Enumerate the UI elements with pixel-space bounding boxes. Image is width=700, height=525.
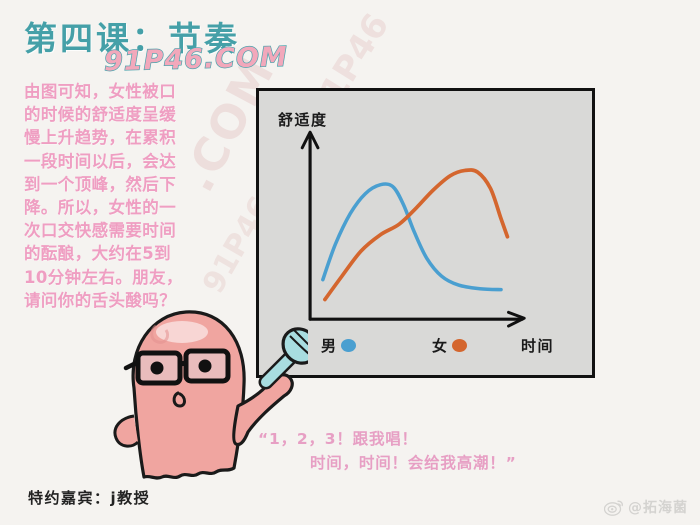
legend-label-female: 女 [432,335,447,356]
body-line: 10分钟左右。朋友， [24,266,236,289]
character-head-highlight [156,321,208,343]
quote-line: 时间，时间！会给我高潮！” [258,451,517,475]
chart-plot-area [259,91,592,375]
body-line: 降。所以，女性的一 [24,196,236,219]
legend-label-male: 男 [321,335,336,356]
series-line-male [323,184,501,290]
poster-canvas: .COM 91P46 91P46 第四课：节奏 91P46.COM 由图可知，女… [0,0,700,525]
body-line: 的酝酿，大约在5到 [24,242,236,265]
legend-item-male[interactable]: 男 [321,335,356,356]
legend-color-dot-female [452,339,467,352]
guest-caption: 特约嘉宾：j教授 [28,487,150,508]
quote-line: “1，2，3！跟我唱！ [258,427,517,451]
legend-color-dot-male [341,339,356,352]
body-line: 由图可知，女性被口 [24,80,236,103]
body-line: 到一个顶峰，然后下 [24,173,236,196]
legend-item-female[interactable]: 女 [432,335,467,356]
body-line: 一段时间以后，会达 [24,150,236,173]
quote-block: “1，2，3！跟我唱！ 时间，时间！会给我高潮！” [258,427,517,475]
eye-right [199,360,212,373]
body-line: 的时候的舒适度呈缓 [24,103,236,126]
body-line: 次口交快感需要时间 [24,219,236,242]
y-axis-title: 舒适度 [278,109,328,130]
body-paragraph: 由图可知，女性被口 的时候的舒适度呈缓 慢上升趋势，在累积 一段时间以后，会达 … [24,80,236,312]
body-line: 慢上升趋势，在累积 [24,126,236,149]
character-left-arm [115,416,138,446]
x-axis-title: 时间 [521,335,554,356]
site-watermark: 91P46.COM [104,42,289,78]
glasses-bridge [180,363,186,364]
eye-left [151,362,164,375]
weibo-watermark: @拓海菌 [604,497,688,517]
weibo-handle: @拓海菌 [628,497,688,517]
weibo-logo-icon [604,499,624,516]
